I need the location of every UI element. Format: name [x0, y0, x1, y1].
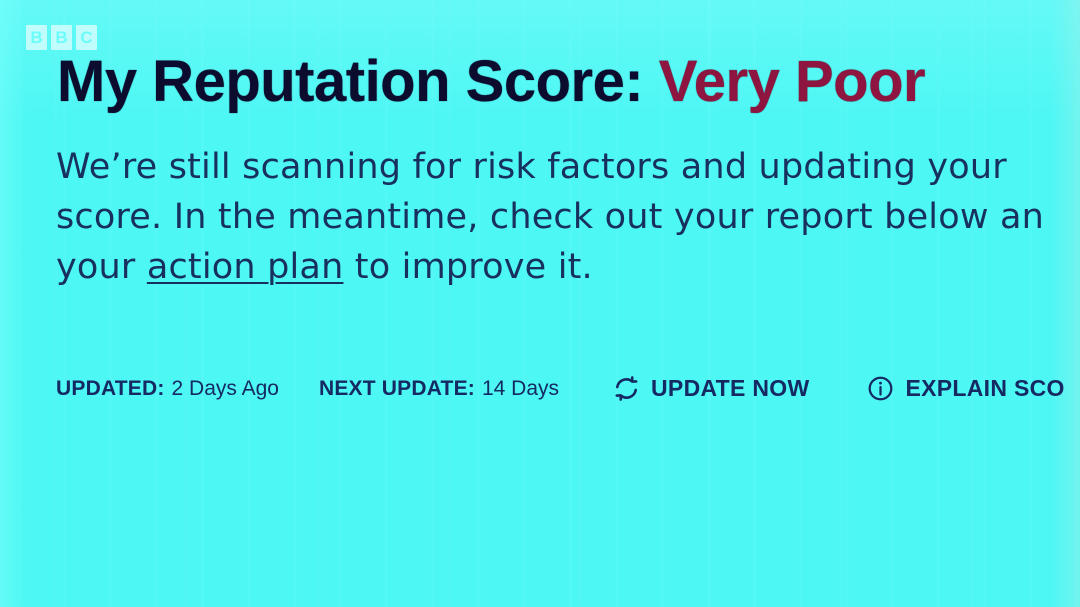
score-meta-bar: UPDATED: 2 Days Ago NEXT UPDATE: 14 Days…: [56, 375, 1065, 402]
updated-value: 2 Days Ago: [172, 377, 279, 401]
refresh-icon: [613, 375, 640, 402]
reputation-score-screen: B B C My Reputation Score: Very Poor We’…: [0, 0, 1080, 607]
updated-meta: UPDATED: 2 Days Ago: [56, 377, 279, 401]
info-icon: [867, 375, 894, 402]
next-update-value: 14 Days: [482, 377, 559, 401]
explain-score-label: EXPLAIN SCO: [905, 377, 1064, 400]
action-plan-link[interactable]: action plan: [147, 247, 344, 287]
page-title-prefix: My Reputation Score:: [57, 49, 659, 114]
update-now-button[interactable]: UPDATE NOW: [613, 375, 809, 402]
description-line-3: your action plan to improve it.: [56, 242, 1080, 292]
updated-label: UPDATED:: [56, 377, 165, 401]
bbc-logo-block-2: B: [51, 25, 72, 50]
update-now-label: UPDATE NOW: [651, 377, 809, 400]
description-line-2: score. In the meantime, check out your r…: [56, 192, 1080, 242]
explain-score-button[interactable]: EXPLAIN SCO: [867, 375, 1064, 402]
bbc-logo: B B C: [26, 25, 97, 50]
next-update-meta: NEXT UPDATE: 14 Days: [319, 377, 559, 401]
bbc-logo-block-3: C: [76, 25, 97, 50]
score-value: Very Poor: [659, 49, 925, 114]
background-right-edge: [1050, 0, 1080, 607]
description-line-3-prefix: your: [56, 247, 147, 287]
score-description: We’re still scanning for risk factors an…: [56, 142, 1080, 292]
description-line-3-suffix: to improve it.: [343, 247, 592, 287]
next-update-label: NEXT UPDATE:: [319, 377, 475, 401]
page-title: My Reputation Score: Very Poor: [57, 52, 925, 112]
bbc-logo-block-1: B: [26, 25, 47, 50]
background-left-edge: [0, 0, 26, 607]
description-line-1: We’re still scanning for risk factors an…: [56, 142, 1080, 192]
